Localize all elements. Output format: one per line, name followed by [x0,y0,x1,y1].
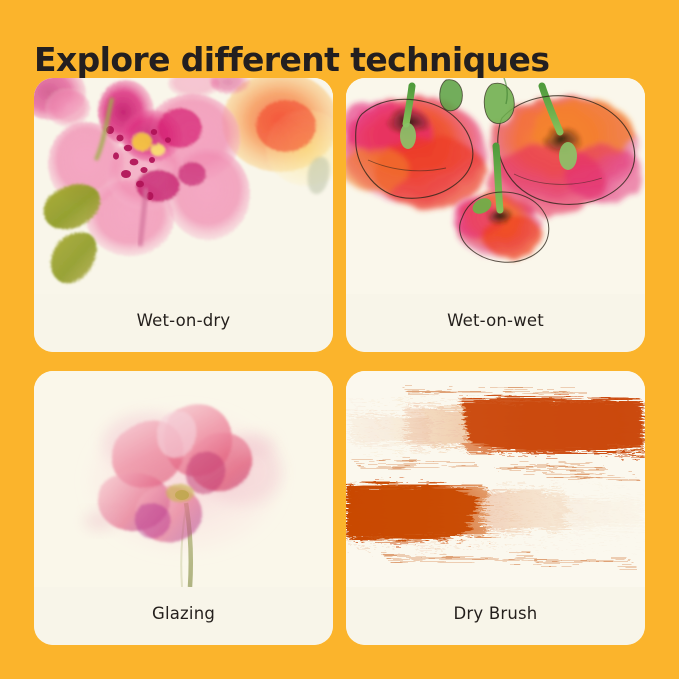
card-label-wet-on-dry: Wet-on-dry [34,294,333,352]
technique-card-grid: Wet-on-dry [34,78,645,645]
technique-card-glazing[interactable]: Glazing [34,371,333,645]
page-root: Explore different techniques [0,0,679,679]
wet-on-dry-illustration [34,78,333,294]
card-label-dry-brush: Dry Brush [346,587,645,645]
artwork-wet-on-wet [346,78,645,294]
wet-on-wet-illustration [346,78,645,294]
artwork-glazing [34,371,333,587]
technique-card-wet-on-wet[interactable]: Wet-on-wet [346,78,645,352]
glazing-illustration [34,371,333,587]
artwork-wet-on-dry [34,78,333,294]
technique-card-dry-brush[interactable]: Dry Brush [346,371,645,645]
card-label-wet-on-wet: Wet-on-wet [346,294,645,352]
technique-card-wet-on-dry[interactable]: Wet-on-dry [34,78,333,352]
dry-brush-illustration [346,371,645,587]
page-title: Explore different techniques [34,39,654,81]
artwork-dry-brush [346,371,645,587]
card-label-glazing: Glazing [34,587,333,645]
